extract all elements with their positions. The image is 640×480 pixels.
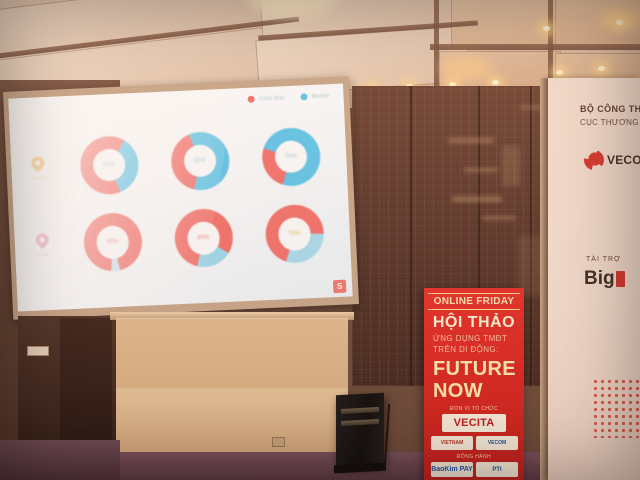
donut-center-label: 60% <box>194 158 206 165</box>
donut-chart-r2c3: 70% <box>264 204 325 265</box>
carpet-floor-left <box>0 440 120 480</box>
donut-cell: 65% <box>62 124 156 206</box>
donut-cell: 80% <box>156 198 250 280</box>
donut-center-label: 65% <box>103 162 115 169</box>
downlight <box>543 26 550 31</box>
donut-cell: 95% <box>65 202 159 284</box>
sponsor-brand: Big <box>584 268 625 290</box>
sponsor-logo-vecita: VECITA <box>442 414 506 432</box>
backdrop-heading: BỘ CÔNG THƯƠNG <box>580 104 640 114</box>
sponsor-brand-mark-icon <box>616 271 625 287</box>
legend-swatch-mobile <box>300 93 307 100</box>
downlight <box>616 20 623 25</box>
legend-label-mobile: Mobile <box>311 93 329 100</box>
donut-chart-r2c2: 80% <box>173 208 234 269</box>
donut-chart-r1c1: 65% <box>79 135 140 196</box>
donut-cell: 60% <box>153 120 247 202</box>
donut-center-label: 95% <box>106 239 118 246</box>
donut-cell: 70% <box>247 193 341 275</box>
sponsor-logo-pti-text: PTI <box>492 467 501 473</box>
sponsor-logo-vietnam-text: VIETNAM <box>441 440 464 446</box>
vecita-wordmark: VECITA <box>454 417 495 429</box>
row-icon-search: Search <box>31 156 46 181</box>
row-icon-social: Social <box>35 233 49 258</box>
rollup-sponsor-heading-1: ĐƠN VỊ TỔ CHỨC <box>424 406 524 412</box>
rollup-now-text: NOW <box>433 380 483 403</box>
stage-front-panel <box>116 318 348 452</box>
chart-legend: Click first Mobile <box>248 92 330 103</box>
downlight <box>598 66 605 71</box>
donut-chart-grid: 65% 60% 75% 95% <box>62 116 342 283</box>
exit-sign <box>27 346 49 356</box>
event-backdrop: BỘ CÔNG THƯƠNG CỤC THƯƠNG MẠI ĐIỆN TỬ VE… <box>548 78 640 480</box>
sponsor-logo-vecom: VECOM <box>476 436 518 450</box>
sponsor-logo-vecom-text: VECOM <box>488 440 506 446</box>
online-friday-band: ONLINE FRIDAY <box>428 293 520 310</box>
backdrop-subheading: CỤC THƯƠNG MẠI ĐIỆN TỬ <box>580 118 640 127</box>
row-icon-label-search: Search <box>32 175 46 181</box>
sponsor-logo-baokim: BaoKim PAY <box>431 462 473 477</box>
sponsor-brand-text: Big <box>584 268 615 289</box>
rollup-sponsor-heading-2: ĐỒNG HÀNH <box>424 454 524 460</box>
legend-label-clickfirst: Click first <box>259 95 285 102</box>
legend-item-clickfirst: Click first <box>248 94 285 103</box>
row-icon-label-social: Social <box>36 252 49 258</box>
donut-chart-r2c1: 95% <box>82 212 143 273</box>
donut-chart-r1c2: 60% <box>170 131 231 192</box>
backstage-door <box>60 318 112 452</box>
legend-swatch-clickfirst <box>248 96 255 103</box>
sponsor-logo-baokim-text: BaoKim PAY <box>431 466 473 473</box>
slide-corner-logo: S <box>333 280 347 294</box>
sponsor-logo-vietnam: VIETNAM <box>431 436 473 450</box>
donut-center-label: 70% <box>288 231 300 238</box>
vecom-wordmark: VECOM <box>607 153 640 167</box>
rollup-banner: ONLINE FRIDAY HỘI THẢO ỨNG DỤNG TMĐT TRÊ… <box>424 288 524 480</box>
donut-center-label: 80% <box>197 235 209 242</box>
online-friday-text: ONLINE FRIDAY <box>434 296 515 307</box>
loudspeaker <box>336 393 384 468</box>
pin-icon <box>31 156 45 174</box>
rollup-subline-1: ỨNG DỤNG TMĐT <box>433 334 507 343</box>
sponsor-label: TÀI TRỢ <box>586 256 621 263</box>
rollup-future-text: FUTURE <box>433 358 516 381</box>
projection-screen: Click first Mobile Search <box>3 76 359 319</box>
wall-outlet <box>272 437 285 447</box>
donut-center-label: 75% <box>285 153 297 160</box>
downlight <box>492 80 499 85</box>
slide-row-icons: Search Social <box>16 129 65 286</box>
donut-chart-r1c3: 75% <box>260 126 321 187</box>
pin-icon <box>35 233 49 251</box>
rollup-headline: HỘI THẢO <box>424 314 524 332</box>
backdrop-dot-pattern <box>592 378 640 438</box>
vecom-mark-icon <box>584 150 604 170</box>
downlight <box>556 70 563 75</box>
photo-scene: Click first Mobile Search <box>0 0 640 480</box>
legend-item-mobile: Mobile <box>300 92 329 100</box>
vecom-logo: VECOM <box>584 150 640 170</box>
slide-surface: Click first Mobile Search <box>8 84 352 312</box>
donut-cell: 75% <box>244 116 338 198</box>
sponsor-logo-pti: PTI <box>476 462 518 477</box>
rollup-subline-2: TRÊN DI ĐỘNG: <box>433 345 499 354</box>
